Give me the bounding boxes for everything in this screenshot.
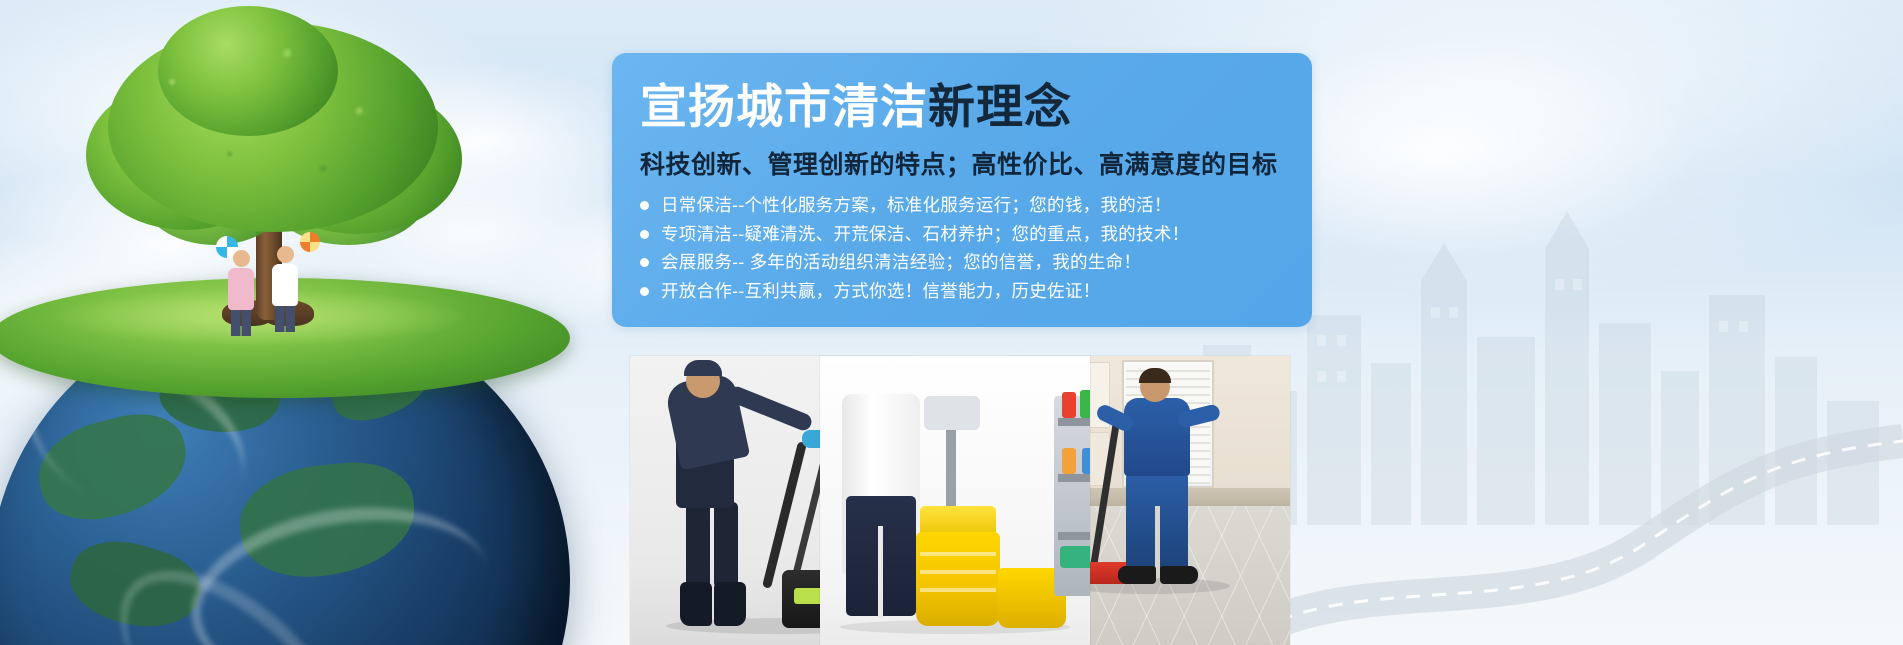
headline-highlight: 宣扬城市清洁: [640, 80, 928, 133]
list-item-label: 会展服务-- 多年的活动组织清洁经验；您的信誉，我的生命！: [661, 254, 1141, 272]
child-figure: [272, 246, 298, 332]
headline-rest: 新理念: [928, 80, 1072, 133]
page-subtitle: 科技创新、管理创新的特点；高性价比、高满意度的目标: [640, 145, 1312, 181]
feature-list: 日常保洁--个性化服务方案，标准化服务运行；您的钱，我的活！ 专项清洁--疑难清…: [640, 197, 1312, 300]
pinwheel-icon: [300, 232, 320, 252]
curved-road-illustration: [1223, 415, 1903, 645]
list-item-label: 专项清洁--疑难清洗、开荒保洁、石材养护；您的重点，我的技术！: [661, 226, 1189, 244]
service-photo-strip: [630, 356, 1290, 645]
bullet-dot-icon: [640, 258, 649, 267]
list-item: 日常保洁--个性化服务方案，标准化服务运行；您的钱，我的活！: [640, 197, 1312, 215]
photo-mop-bucket-equipment: [820, 356, 1090, 645]
promo-text-card: 宣扬城市清洁新理念 科技创新、管理创新的特点；高性价比、高满意度的目标 日常保洁…: [612, 53, 1312, 327]
list-item: 开放合作--互利共赢，方式你选！信誉能力，历史佐证！: [640, 283, 1312, 301]
bullet-dot-icon: [640, 201, 649, 210]
page-title: 宣扬城市清洁新理念: [640, 83, 1312, 130]
list-item: 专项清洁--疑难清洗、开荒保洁、石材养护；您的重点，我的技术！: [640, 226, 1312, 244]
bullet-dot-icon: [640, 287, 649, 296]
list-item-label: 日常保洁--个性化服务方案，标准化服务运行；您的钱，我的活！: [661, 197, 1172, 215]
cleaning-service-banner: 宣扬城市清洁新理念 科技创新、管理创新的特点；高性价比、高满意度的目标 日常保洁…: [0, 0, 1903, 645]
list-item-label: 开放合作--互利共赢，方式你选！信誉能力，历史佐证！: [661, 283, 1100, 301]
child-figure: [228, 250, 254, 336]
list-item: 会展服务-- 多年的活动组织清洁经验；您的信誉，我的生命！: [640, 254, 1312, 272]
bullet-dot-icon: [640, 230, 649, 239]
earth-with-tree-illustration: [0, 0, 590, 645]
